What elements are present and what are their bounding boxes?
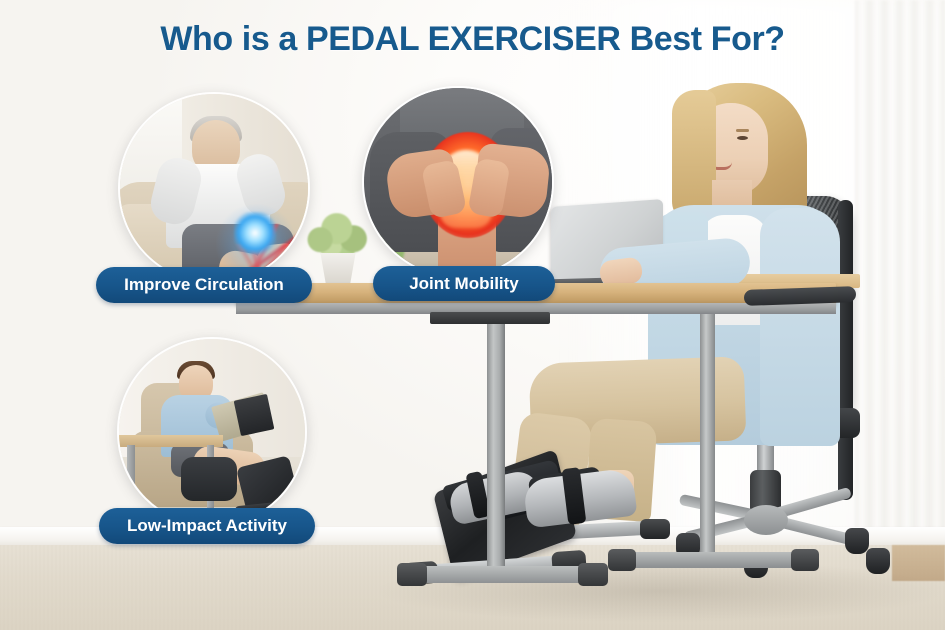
desk-control-mechanism bbox=[430, 312, 550, 324]
callout-circle-joint-mobility bbox=[362, 86, 554, 278]
infographic-canvas: Who is a PEDAL EXERCISER Best For? bbox=[0, 0, 945, 630]
pedal-exerciser-foot-cap bbox=[640, 519, 670, 539]
desk-foot-right bbox=[618, 552, 808, 568]
circle3-tablet bbox=[234, 394, 275, 436]
circle3-ottoman bbox=[181, 457, 237, 501]
chair-caster bbox=[866, 548, 890, 574]
desk-leg-right bbox=[700, 300, 715, 558]
chair-base-hub bbox=[744, 505, 788, 535]
callout-circle-improve-circulation bbox=[118, 92, 310, 284]
woman-eyebrow bbox=[736, 129, 749, 132]
desk-foot-cap bbox=[608, 549, 636, 571]
desk-foot-left bbox=[408, 566, 594, 583]
chair-caster bbox=[845, 528, 869, 554]
badge-joint-mobility: Joint Mobility bbox=[373, 266, 555, 301]
chair-frame bbox=[838, 200, 853, 500]
page-title: Who is a PEDAL EXERCISER Best For? bbox=[0, 20, 945, 59]
desk-foot-cap bbox=[791, 549, 819, 571]
woman-cardigan-right bbox=[760, 208, 840, 446]
callout-circle-low-impact-activity bbox=[117, 337, 307, 527]
badge-improve-circulation: Improve Circulation bbox=[96, 267, 312, 303]
desk-leg-left bbox=[487, 314, 505, 572]
window-curtain bbox=[855, 0, 945, 545]
potted-plant-foliage bbox=[306, 213, 370, 259]
desk-foot-cap bbox=[397, 563, 427, 586]
circle1-blue-glow-core bbox=[234, 212, 276, 254]
badge-low-impact-activity: Low-Impact Activity bbox=[99, 508, 315, 544]
desk-foot-cap bbox=[578, 563, 608, 586]
woman-eye bbox=[737, 136, 748, 140]
